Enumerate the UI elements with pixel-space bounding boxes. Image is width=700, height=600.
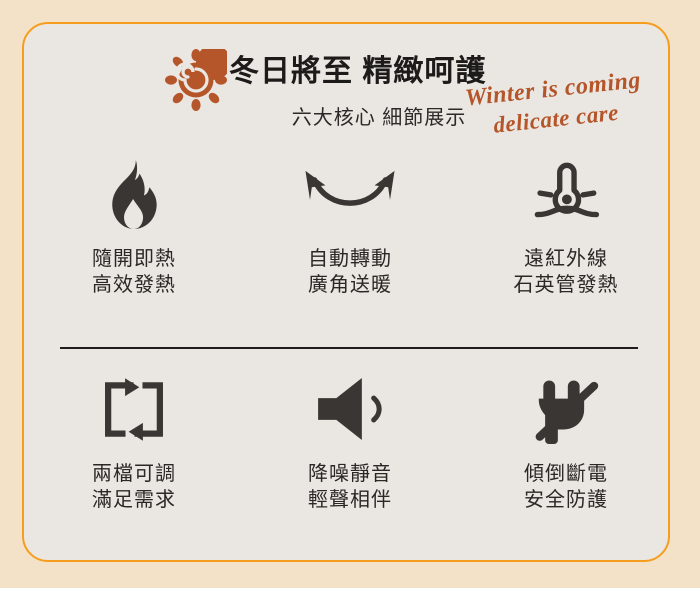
feature-label-line1: 自動轉動 <box>242 246 458 272</box>
feature-label: 傾倒斷電 安全防護 <box>458 461 674 513</box>
plug-disconnect-icon <box>458 369 674 449</box>
flame-icon <box>26 154 242 234</box>
feature-item-two-speed: 兩檔可調 滿足需求 <box>26 369 242 513</box>
feature-item-instant-heat: 隨開即熱 高效發熱 <box>26 154 242 298</box>
poster-stage: 冬日將至 精緻呵護 六大核心 細節展示 Winter is coming del… <box>0 0 700 600</box>
speaker-low-volume-icon <box>242 369 458 449</box>
thermometer-infrared-icon <box>458 154 674 234</box>
feature-label-line1: 遠紅外線 <box>458 246 674 272</box>
feature-item-infrared: 遠紅外線 石英管發熱 <box>458 154 674 298</box>
feature-label-line2: 滿足需求 <box>26 487 242 513</box>
feature-item-tipover-protection: 傾倒斷電 安全防護 <box>458 369 674 513</box>
feature-label-line1: 降噪靜音 <box>242 461 458 487</box>
feature-item-oscillation: 自動轉動 廣角送暖 <box>242 154 458 298</box>
feature-label: 兩檔可調 滿足需求 <box>26 461 242 513</box>
feature-label-line2: 輕聲相伴 <box>242 487 458 513</box>
feature-label-line1: 隨開即熱 <box>26 246 242 272</box>
feature-label-line2: 石英管發熱 <box>458 272 674 298</box>
feature-label-line2: 高效發熱 <box>26 272 242 298</box>
feature-label-line1: 傾倒斷電 <box>458 461 674 487</box>
feature-grid: 隨開即熱 高效發熱 自動轉動 廣角送暖 <box>24 24 672 564</box>
feature-label: 隨開即熱 高效發熱 <box>26 246 242 298</box>
feature-label-line2: 安全防護 <box>458 487 674 513</box>
feature-item-low-noise: 降噪靜音 輕聲相伴 <box>242 369 458 513</box>
feature-panel: 冬日將至 精緻呵護 六大核心 細節展示 Winter is coming del… <box>22 22 670 562</box>
feature-label: 自動轉動 廣角送暖 <box>242 246 458 298</box>
bottom-white-strip <box>0 588 700 600</box>
feature-label-line1: 兩檔可調 <box>26 461 242 487</box>
feature-label: 降噪靜音 輕聲相伴 <box>242 461 458 513</box>
repeat-loop-icon <box>26 369 242 449</box>
feature-label-line2: 廣角送暖 <box>242 272 458 298</box>
feature-label: 遠紅外線 石英管發熱 <box>458 246 674 298</box>
oscillation-double-arrow-icon <box>242 154 458 234</box>
